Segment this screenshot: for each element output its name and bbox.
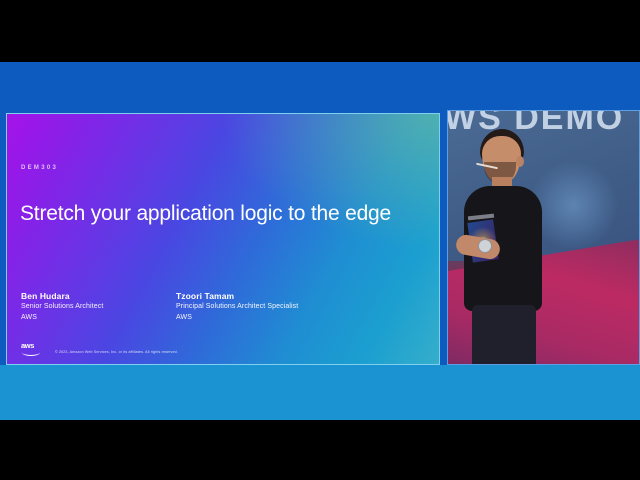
aws-smile-icon bbox=[22, 349, 40, 356]
speaker-role: Principal Solutions Architect Specialist bbox=[176, 302, 331, 313]
letterbox-bar-bottom bbox=[0, 420, 640, 480]
video-player-stage: DEM303 Stretch your application logic to… bbox=[0, 0, 640, 480]
letterbox-bar-top bbox=[0, 0, 640, 62]
stage-backdrop-glow bbox=[526, 163, 621, 248]
backdrop-title-text: WS DEMO bbox=[447, 110, 640, 138]
session-code-label: DEM303 bbox=[21, 165, 58, 171]
speaker-org: AWS bbox=[21, 313, 176, 324]
slide-title: Stretch your application logic to the ed… bbox=[20, 201, 400, 226]
speaker-camera-panel: WS DEMO bbox=[447, 110, 640, 365]
presentation-slide: DEM303 Stretch your application logic to… bbox=[6, 113, 440, 365]
speaker-org: AWS bbox=[176, 313, 331, 324]
speaker-name: Ben Hudara bbox=[21, 290, 176, 302]
speaker-name: Tzoori Tamam bbox=[176, 290, 331, 302]
speaker-entry: Ben Hudara Senior Solutions Architect AW… bbox=[21, 290, 176, 323]
speaker-role: Senior Solutions Architect bbox=[21, 302, 176, 313]
copyright-text: © 2023, Amazon Web Services, Inc. or its… bbox=[55, 350, 178, 356]
video-frame: DEM303 Stretch your application logic to… bbox=[0, 62, 640, 420]
stage-backdrop-lower-band bbox=[0, 365, 640, 420]
slide-footer: aws © 2023, Amazon Web Services, Inc. or… bbox=[21, 342, 178, 356]
aws-logo-icon: aws bbox=[21, 342, 43, 356]
speaker-entry: Tzoori Tamam Principal Solutions Archite… bbox=[176, 290, 331, 323]
speaker-list: Ben Hudara Senior Solutions Architect AW… bbox=[21, 290, 421, 323]
